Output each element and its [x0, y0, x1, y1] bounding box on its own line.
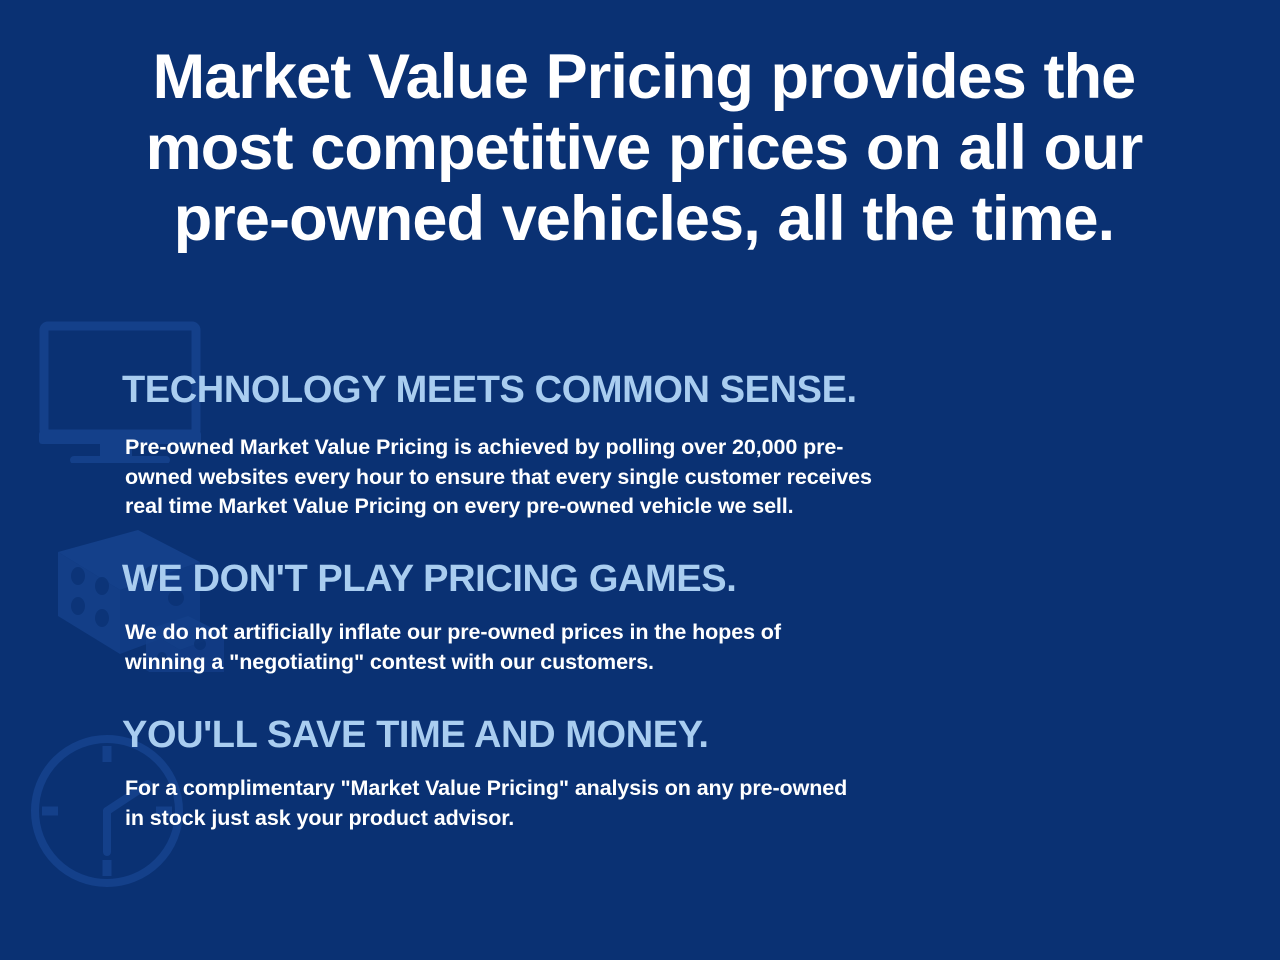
section-heading-save-time-money: YOU'LL SAVE TIME AND MONEY.: [122, 713, 1085, 757]
body-line: We do not artificially inflate our pre-o…: [125, 618, 1005, 648]
section-body-pricing-games: We do not artificially inflate our pre-o…: [122, 618, 1005, 677]
body-line: in stock just ask your product advisor.: [125, 804, 1085, 834]
section-save-time-money: YOU'LL SAVE TIME AND MONEY. For a compli…: [122, 713, 1085, 833]
section-body-save-time-money: For a complimentary "Market Value Pricin…: [122, 774, 1085, 833]
section-body-technology: Pre-owned Market Value Pricing is achiev…: [122, 433, 1100, 522]
slide-canvas: Market Value Pricing provides the most c…: [0, 0, 1280, 960]
section-heading-pricing-games: WE DON'T PLAY PRICING GAMES.: [122, 557, 1005, 601]
body-line: real time Market Value Pricing on every …: [125, 492, 1100, 522]
body-line: winning a "negotiating" contest with our…: [125, 648, 1005, 678]
headline-line-3: pre-owned vehicles, all the time.: [104, 184, 1184, 255]
body-line: For a complimentary "Market Value Pricin…: [125, 774, 1085, 804]
section-technology: TECHNOLOGY MEETS COMMON SENSE. Pre-owned…: [122, 368, 1100, 522]
page-title: Market Value Pricing provides the most c…: [104, 42, 1184, 255]
section-pricing-games: WE DON'T PLAY PRICING GAMES. We do not a…: [122, 557, 1005, 677]
section-heading-technology: TECHNOLOGY MEETS COMMON SENSE.: [122, 368, 1100, 412]
headline-line-1: Market Value Pricing provides the: [104, 42, 1184, 113]
headline-line-2: most competitive prices on all our: [104, 113, 1184, 184]
body-line: Pre-owned Market Value Pricing is achiev…: [125, 433, 1100, 463]
body-line: owned websites every hour to ensure that…: [125, 463, 1100, 493]
